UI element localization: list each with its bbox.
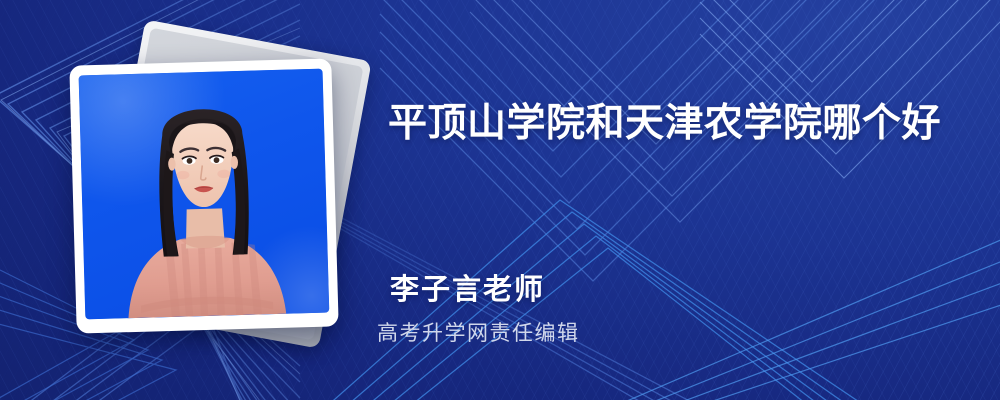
page-title: 平顶山学院和天津农学院哪个好 [388,100,948,148]
photo-front-card [69,58,338,333]
author-name: 李子言老师 [390,272,545,308]
article-header-banner: 平顶山学院和天津农学院哪个好 李子言老师 高考升学网责任编辑 [0,0,1000,400]
teacher-portrait-photo [79,69,330,320]
portrait-illustration [79,69,330,320]
photo-stack [55,32,375,352]
author-role: 高考升学网责任编辑 [377,320,580,348]
